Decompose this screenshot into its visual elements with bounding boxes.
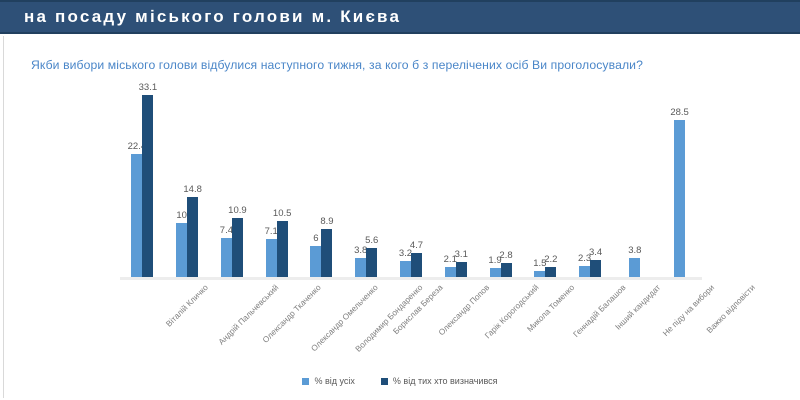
chart-bar-rect[interactable] [187,197,198,279]
chart-bar-rect[interactable] [355,258,366,279]
chart-bar-value-label: 3.1 [455,250,468,260]
chart-bar-rect[interactable] [321,229,332,279]
slide: на посаду міського голови м. Києва Якби … [0,0,800,400]
chart-bar[interactable]: 8.9 [321,84,332,279]
chart-bar-group: 2.13.1 [433,84,478,279]
chart-bar[interactable]: 7.1 [266,84,277,279]
chart-bar-rect[interactable] [176,223,187,279]
chart-bar[interactable]: 3.8 [355,84,366,279]
chart-bar-group: 22.433.1 [120,84,165,279]
chart-bar-rect[interactable] [411,253,422,279]
legend-label: % від тих хто визначився [393,376,498,386]
chart-bar-group: 68.9 [299,84,344,279]
chart-bar-group: 1.52.2 [523,84,568,279]
chart-bar-value-label: 2.8 [499,251,512,261]
chart-bar-value-label: 10.9 [228,206,247,216]
chart-bar-group: 7.410.9 [210,84,255,279]
chart-bar-rect[interactable] [629,258,640,279]
chart-bar-rect[interactable] [266,239,277,279]
chart-bar-rect[interactable] [674,120,685,279]
chart-bar-group: 3.24.7 [389,84,434,279]
chart-bar-value-label: 3.4 [589,248,602,258]
chart-bar-rect[interactable] [366,248,377,279]
chart-bar[interactable]: 1.5 [534,84,545,279]
legend-item[interactable]: % від тих хто визначився [381,376,498,386]
chart-bar[interactable]: 22.4 [131,84,142,279]
chart-question-subtitle: Якби вибори міського голови відбулися на… [31,58,643,72]
chart-bar[interactable]: 28.5 [674,84,685,279]
chart-bar[interactable]: 6 [310,84,321,279]
chart-x-axis-line [120,277,702,280]
chart-bar-rect[interactable] [277,221,288,280]
chart-bar[interactable]: 7.4 [221,84,232,279]
chart-bar-group: 3.8 [612,84,657,279]
chart-bar-rect[interactable] [142,95,153,279]
chart-bar-rect[interactable] [221,238,232,279]
page-title: на посаду міського голови м. Києва [24,7,401,27]
chart-bar-group: 3.85.6 [344,84,389,279]
chart-bar-value-label: 14.8 [183,185,202,195]
chart-bar-group: 7.110.5 [254,84,299,279]
chart-bar[interactable]: 2.8 [501,84,512,279]
chart-bar-group: 1.92.8 [478,84,523,279]
chart-bar-value-label: 10.5 [273,209,292,219]
chart-bar-value-label: 5.6 [365,236,378,246]
chart-bar-value-label: 3.8 [628,246,641,256]
header-bar: на посаду міського голови м. Києва [0,0,800,34]
chart-bar-value-label: 8.9 [320,217,333,227]
chart-category-label: Віталій Кличко [165,283,211,329]
chart-category-label: Олександр Попов [437,283,491,337]
chart-bar[interactable]: 10.9 [232,84,243,279]
chart-bar-value-label: 6 [313,234,318,244]
chart-bar-rect[interactable] [310,246,321,279]
chart-bar-value-label: 4.7 [410,241,423,251]
chart-bar-group: 1014.8 [165,84,210,279]
chart-bar[interactable]: 3.4 [590,84,601,279]
chart-legend: % від усіх% від тих хто визначився [0,376,800,386]
legend-item[interactable]: % від усіх [302,376,354,386]
chart-bar-group: 28.5 [657,84,702,279]
chart-bar[interactable]: 14.8 [187,84,198,279]
chart-bar-value-label: 10 [176,211,187,221]
chart-bar[interactable]: 3.1 [456,84,467,279]
left-divider [3,36,4,398]
chart-bar-value-label: 33.1 [139,83,158,93]
chart-bar-rect[interactable] [131,154,142,279]
legend-swatch-icon [302,378,309,385]
chart-bar-value-label: 2.2 [544,255,557,265]
chart-bar[interactable]: 5.6 [366,84,377,279]
chart-bar-rect[interactable] [232,218,243,279]
chart-bar-value-label: 28.5 [670,108,689,118]
chart-bar[interactable]: 10.5 [277,84,288,279]
legend-swatch-icon [381,378,388,385]
legend-label: % від усіх [314,376,354,386]
chart-bar[interactable]: 3.8 [629,84,640,279]
chart-bar[interactable]: 2.2 [545,84,556,279]
chart-bar-group: 2.33.4 [568,84,613,279]
chart-bar[interactable]: 10 [176,84,187,279]
chart-plot-area: 22.433.11014.87.410.97.110.568.93.85.63.… [120,84,710,279]
chart-bar[interactable]: 33.1 [142,84,153,279]
chart-bar[interactable]: 4.7 [411,84,422,279]
